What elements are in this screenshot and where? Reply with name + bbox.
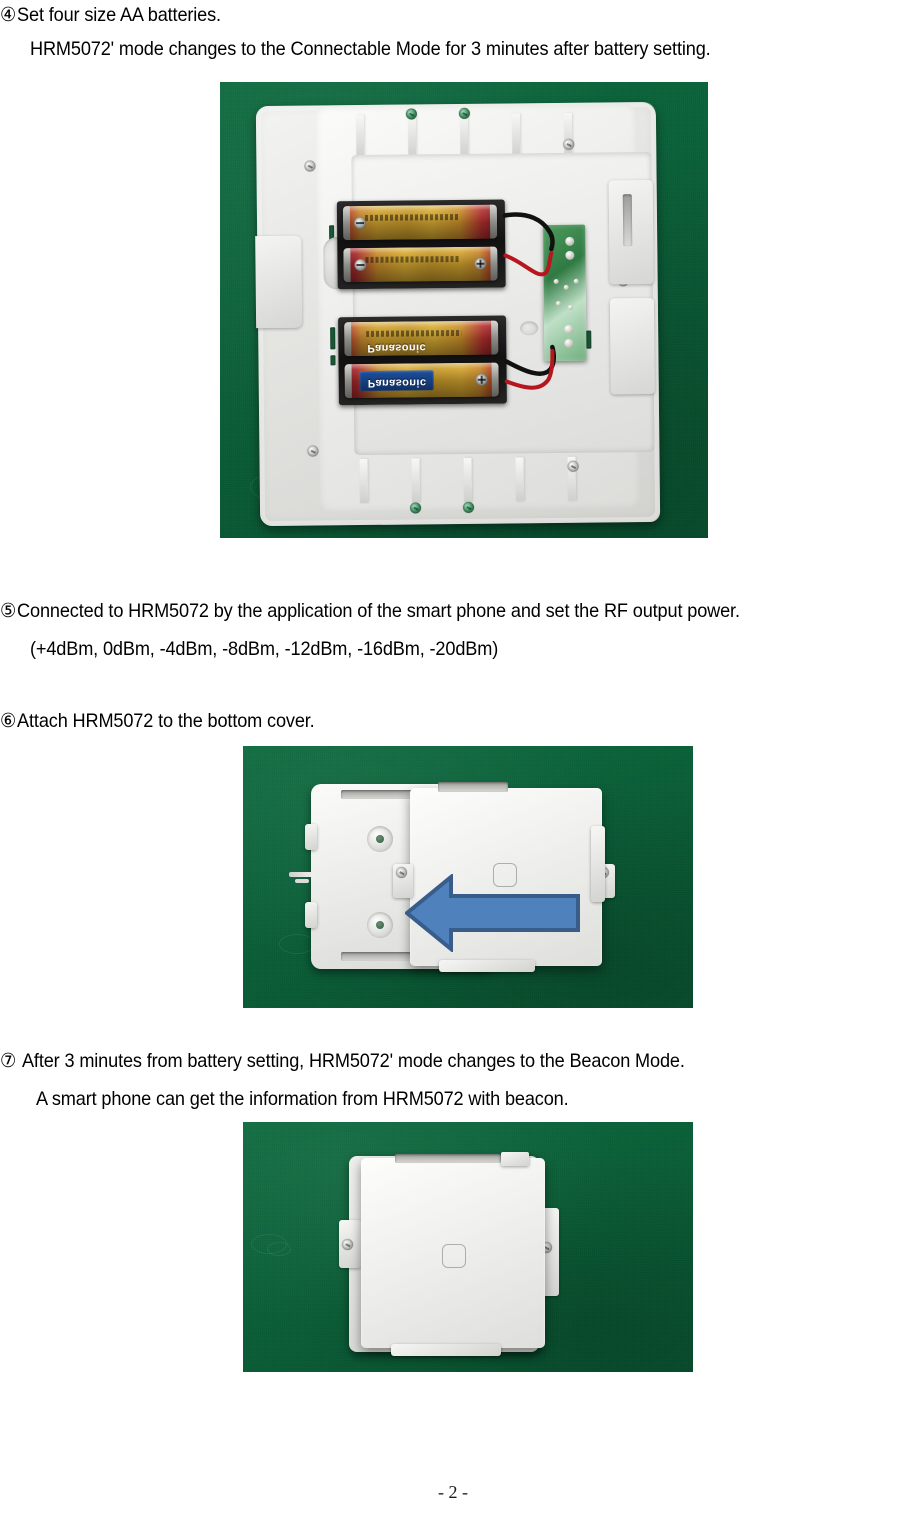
step-4-line-1-text: Set four size AA batteries. xyxy=(17,4,221,26)
step-4-line-2: HRM5072' mode changes to the Connectable… xyxy=(30,36,711,62)
slide-direction-arrow xyxy=(405,874,580,952)
step-6-line-1-text: Attach HRM5072 to the bottom cover. xyxy=(17,710,315,732)
plate-latch-pin xyxy=(289,872,315,877)
step-5-line-2: (+4dBm, 0dBm, -4dBm, -8dBm, -12dBm, -16d… xyxy=(30,636,498,662)
body-top-groove xyxy=(438,782,508,792)
body-side-rail xyxy=(591,826,605,902)
black-wire-lower xyxy=(506,347,554,374)
step-4-marker: ④ xyxy=(0,2,16,28)
device-front-cover xyxy=(361,1158,545,1348)
step-5-marker: ⑤ xyxy=(0,598,16,624)
enclosure-outer-shell: Panasonic Panasonic xyxy=(256,102,660,526)
red-wire-lower xyxy=(506,351,552,388)
cover-center-mark xyxy=(442,1244,466,1268)
plate-mounting-boss xyxy=(367,826,393,852)
step-6-line-1: ⑥Attach HRM5072 to the bottom cover. xyxy=(0,708,315,734)
plate-side-clip xyxy=(305,824,317,850)
bottom-edge-rail xyxy=(391,1344,501,1356)
mat-ghost-mark xyxy=(267,1242,291,1256)
body-bottom-rail xyxy=(439,960,535,972)
plate-mounting-boss xyxy=(367,912,393,938)
step-7-marker: ⑦ xyxy=(0,1048,16,1074)
step-7-line-1: ⑦ After 3 minutes from battery setting, … xyxy=(0,1048,685,1074)
top-right-tab xyxy=(501,1152,529,1166)
battery-wiring xyxy=(256,102,660,526)
step-7-line-2: A smart phone can get the information fr… xyxy=(36,1086,569,1112)
black-wire-upper xyxy=(505,214,553,249)
red-wire-upper xyxy=(505,253,551,275)
top-edge-groove xyxy=(395,1154,501,1163)
attach-bottom-cover-photo xyxy=(243,746,693,1008)
step-5-line-1-text: Connected to HRM5072 by the application … xyxy=(17,600,740,622)
left-mount-screw xyxy=(342,1239,353,1250)
step-5-line-1: ⑤Connected to HRM5072 by the application… xyxy=(0,598,740,624)
battery-compartment-photo: Panasonic Panasonic xyxy=(220,82,708,538)
plate-latch-pin xyxy=(295,879,309,883)
step-7-line-1-text: After 3 minutes from battery setting, HR… xyxy=(22,1050,685,1072)
page-number: - 2 - xyxy=(0,1482,906,1503)
step-6-marker: ⑥ xyxy=(0,708,16,734)
mat-ghost-mark xyxy=(279,934,315,954)
manual-page: ④Set four size AA batteries. HRM5072' mo… xyxy=(0,0,906,1520)
plate-side-clip xyxy=(305,902,317,928)
assembled-device-photo xyxy=(243,1122,693,1372)
step-4-line-1: ④Set four size AA batteries. xyxy=(0,2,221,28)
